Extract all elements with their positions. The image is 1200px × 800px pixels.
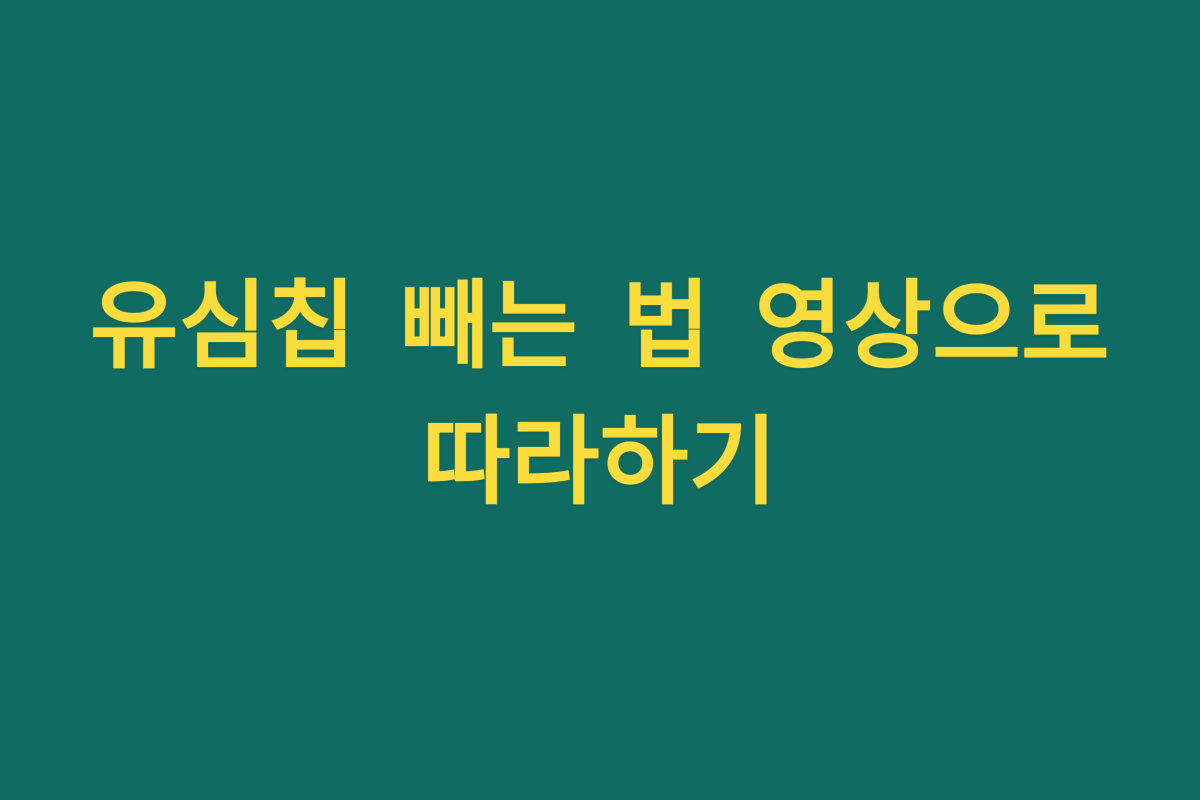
title-card: 유심칩 빼는 법 영상으로 따라하기: [0, 0, 1200, 800]
headline-line-2: 따라하기: [55, 394, 1145, 530]
headline-text: 유심칩 빼는 법 영상으로 따라하기: [55, 258, 1145, 530]
headline-line-1: 유심칩 빼는 법 영상으로: [55, 258, 1145, 394]
